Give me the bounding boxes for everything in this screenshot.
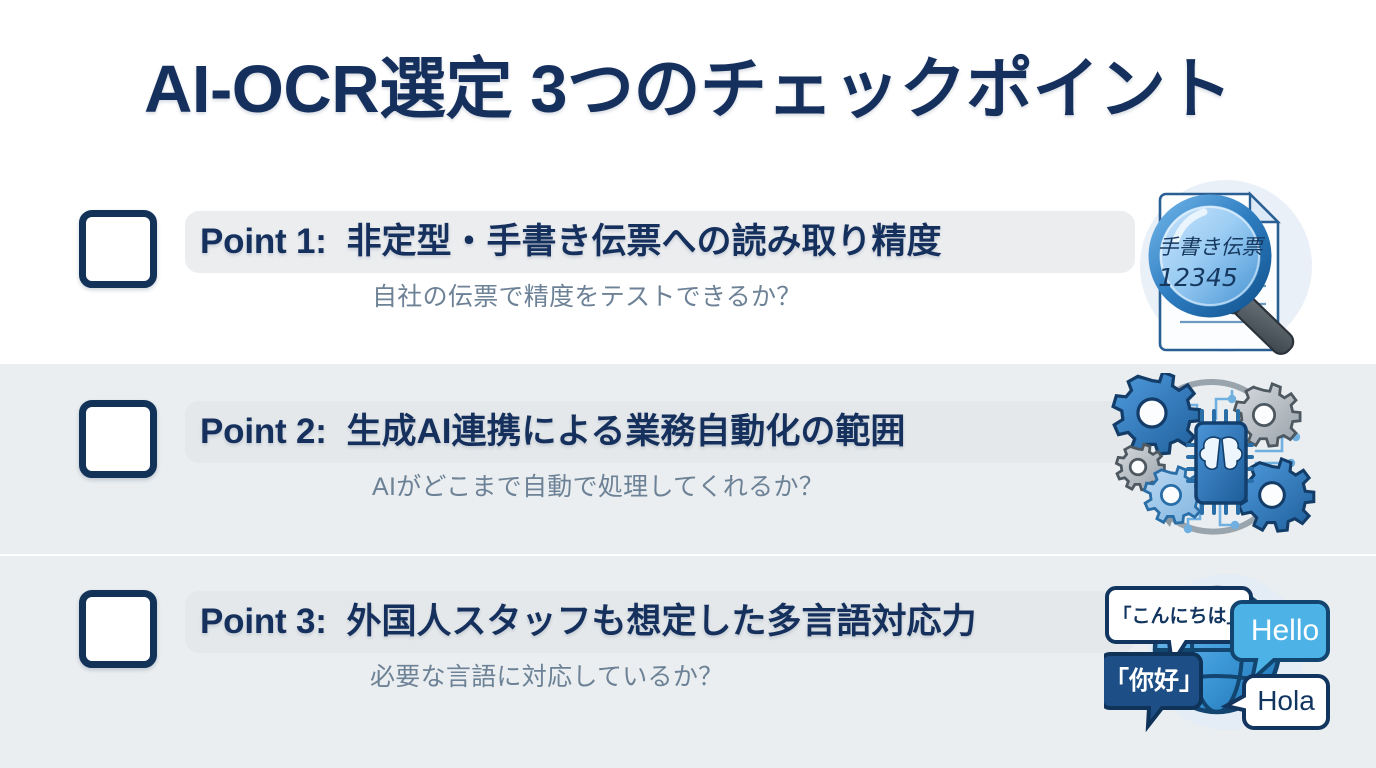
point-1-label: Point 1: [200, 222, 327, 261]
point-2-title: Point 2: 生成AI連携による業務自動化の範囲 [200, 403, 905, 461]
point-3-label: Point 3: [200, 602, 327, 641]
document-magnifier-icon: 手書き伝票 12345 [1118, 174, 1328, 364]
bubble-text-es: Hola [1257, 685, 1315, 716]
point-2-label: Point 2: [200, 412, 327, 451]
point-3-title: Point 3: 外国人スタッフも想定した多言語対応力 [200, 593, 976, 651]
slide-root: AI-OCR選定 3つのチェックポイント Point 1: 非定型・手書き伝票へ… [0, 0, 1376, 768]
point-3-heading: 外国人スタッフも想定した多言語対応力 [346, 602, 976, 641]
checkbox-point-3[interactable] [79, 590, 157, 668]
bubble-text-zh: 「你好」 [1104, 666, 1204, 695]
page-title: AI-OCR選定 3つのチェックポイント [0, 48, 1376, 132]
point-1-title: Point 1: 非定型・手書き伝票への読み取り精度 [200, 213, 941, 271]
point-3-subtitle: 必要な言語に対応しているか？ [370, 660, 723, 694]
point-2-subtitle: AIがどこまで自動で処理してくれるか？ [372, 470, 824, 504]
bubble-text-en: Hello [1251, 614, 1319, 647]
globe-languages-icon: 「こんにちは」 Hello 「你好」 Hola [1104, 560, 1330, 736]
magnifier-text-line2: 12345 [1158, 263, 1238, 292]
point-row-3: Point 3: 外国人スタッフも想定した多言語対応力 必要な言語に対応している… [0, 560, 1376, 730]
point-1-subtitle: 自社の伝票で精度をテストできるか？ [372, 280, 802, 314]
bubble-text-ja: 「こんにちは」 [1112, 604, 1245, 627]
magnifier-text-line1: 手書き伝票 [1158, 235, 1266, 259]
checkbox-point-1[interactable] [79, 210, 157, 288]
point-1-heading: 非定型・手書き伝票への読み取り精度 [346, 222, 941, 261]
checkbox-point-2[interactable] [79, 400, 157, 478]
ai-chip-gears-icon [1104, 373, 1320, 537]
point-row-2: Point 2: 生成AI連携による業務自動化の範囲 AIがどこまで自動で処理し… [0, 370, 1376, 540]
point-row-1: Point 1: 非定型・手書き伝票への読み取り精度 自社の伝票で精度をテストで… [0, 180, 1376, 350]
point-2-heading: 生成AI連携による業務自動化の範囲 [346, 412, 905, 451]
